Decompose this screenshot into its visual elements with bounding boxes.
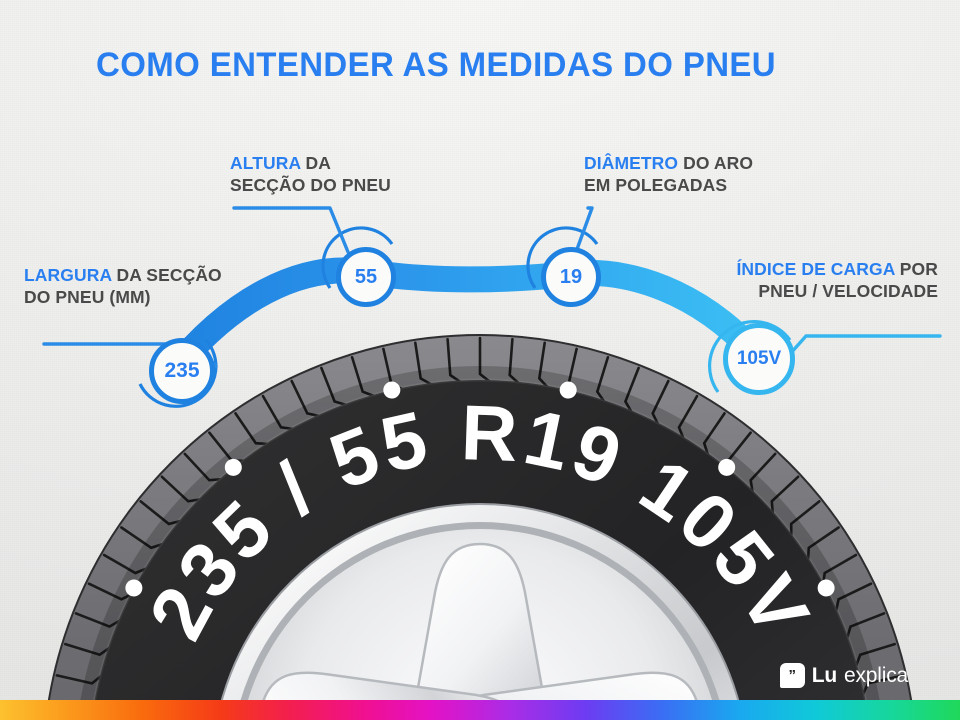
label-altura-rest: DA (301, 153, 331, 173)
label-diametro: DIÂMETRO DO ARO EM POLEGADAS (584, 152, 753, 197)
label-diametro-rest: DO ARO (678, 153, 753, 173)
label-altura: ALTURA DA SECÇÃO DO PNEU (230, 152, 391, 197)
speech-bubble-icon: ” (780, 663, 805, 688)
infographic-canvas: COMO ENTENDER AS MEDIDAS DO PNEU LARGU (0, 0, 960, 720)
label-indice-highlight: ÍNDICE DE CARGA (736, 259, 894, 279)
rainbow-footer-bar (0, 700, 960, 720)
label-largura: LARGURA DA SECÇÃO DO PNEU (MM) (24, 264, 222, 309)
label-largura-highlight: LARGURA (24, 265, 112, 285)
label-largura-line2: DO PNEU (MM) (24, 287, 151, 307)
label-indice-rest: POR (895, 259, 938, 279)
label-altura-line2: SECÇÃO DO PNEU (230, 175, 391, 195)
callout-bubble-altura[interactable]: 55 (336, 247, 396, 307)
leader-altura (234, 208, 348, 252)
logo-word: explica (844, 664, 908, 688)
label-indice: ÍNDICE DE CARGA POR PNEU / VELOCIDADE (736, 258, 938, 303)
label-largura-rest: DA SECÇÃO (112, 265, 222, 285)
lu-explica-logo: ” Lu explica (780, 663, 908, 688)
callout-bubble-indice[interactable]: 105V (723, 323, 795, 395)
label-diametro-highlight: DIÂMETRO (584, 153, 678, 173)
callout-bubble-largura[interactable]: 235 (149, 338, 215, 404)
label-indice-line2: PNEU / VELOCIDADE (758, 281, 938, 301)
label-altura-highlight: ALTURA (230, 153, 301, 173)
callout-bubble-diametro[interactable]: 19 (541, 247, 601, 307)
label-diametro-line2: EM POLEGADAS (584, 175, 727, 195)
logo-brand: Lu (812, 664, 837, 688)
